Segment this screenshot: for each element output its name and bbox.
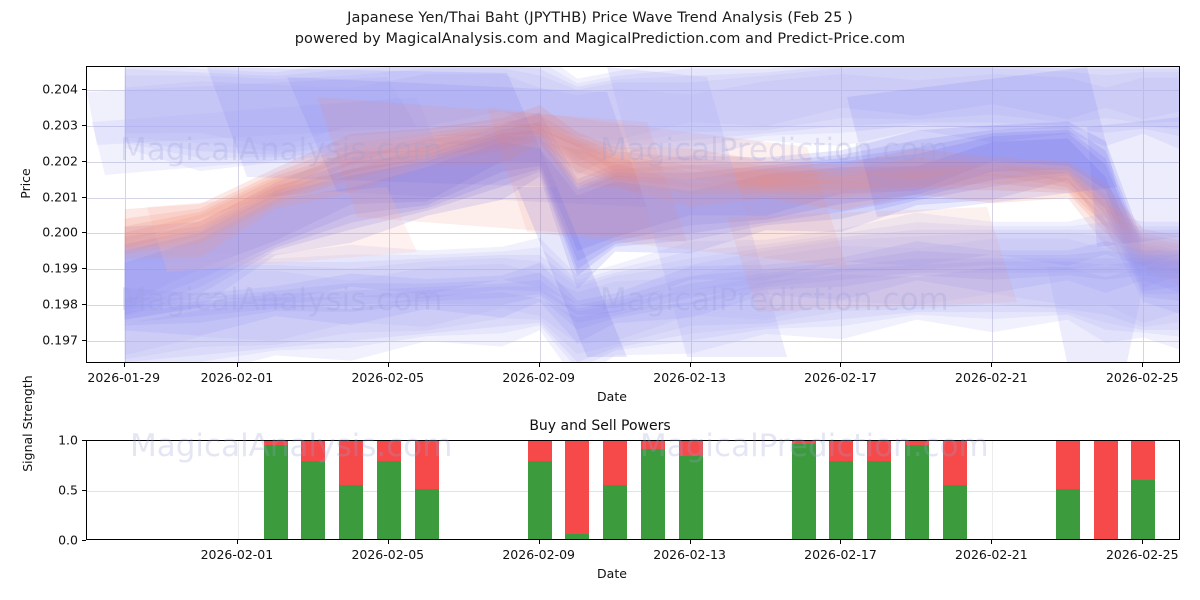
buy-power-segment (377, 461, 401, 539)
signal-y-tick-label: 0.0 (58, 533, 78, 548)
buy-power-segment (905, 445, 929, 539)
signal-bar[interactable] (641, 440, 665, 539)
signal-gridline-vertical (238, 441, 239, 539)
sell-power-segment (1094, 440, 1118, 539)
signal-x-tick-label: 2026-02-13 (653, 547, 726, 562)
price-x-tick-mark (690, 363, 691, 367)
buy-power-segment (565, 534, 589, 539)
price-y-tick-label: 0.199 (42, 261, 78, 276)
signal-y-tick-mark (82, 490, 86, 491)
price-x-tick-label: 2026-02-21 (955, 370, 1028, 385)
signal-bar[interactable] (905, 440, 929, 539)
price-x-tick-mark (1142, 363, 1143, 367)
price-y-tick-mark (82, 340, 86, 341)
signal-bar[interactable] (829, 440, 853, 539)
signal-x-tick-mark (840, 540, 841, 544)
signal-bar[interactable] (1056, 440, 1080, 539)
price-x-tick-label: 2026-02-05 (351, 370, 424, 385)
buy-power-segment (264, 445, 288, 539)
signal-y-tick-label: 0.5 (58, 483, 78, 498)
sell-power-segment (641, 440, 665, 449)
buy-power-segment (339, 485, 363, 539)
price-x-axis-label: Date (597, 389, 627, 404)
buy-sell-chart (86, 440, 1180, 540)
signal-gridline (87, 491, 1179, 492)
page-subtitle: powered by MagicalAnalysis.com and Magic… (0, 29, 1200, 50)
signal-bar[interactable] (867, 440, 891, 539)
sell-power-segment (301, 440, 325, 461)
price-y-tick-label: 0.203 (42, 118, 78, 133)
signal-y-tick-label: 1.0 (58, 433, 78, 448)
signal-bar[interactable] (339, 440, 363, 539)
buy-power-segment (943, 485, 967, 539)
price-x-tick-mark (237, 363, 238, 367)
price-y-tick-label: 0.201 (42, 189, 78, 204)
price-x-tick-mark (539, 363, 540, 367)
price-y-tick-mark (82, 304, 86, 305)
signal-bar[interactable] (377, 440, 401, 539)
chart-title-block: Japanese Yen/Thai Baht (JPYTHB) Price Wa… (0, 8, 1200, 50)
sell-power-segment (565, 440, 589, 534)
signal-x-tick-label: 2026-02-21 (955, 547, 1028, 562)
price-x-tick-label: 2026-01-29 (87, 370, 160, 385)
price-y-tick-label: 0.197 (42, 332, 78, 347)
buy-power-segment (1056, 489, 1080, 539)
price-wave-bands (87, 67, 1180, 363)
price-x-tick-label: 2026-02-17 (804, 370, 877, 385)
sell-power-segment (867, 440, 891, 461)
signal-x-tick-mark (539, 540, 540, 544)
buy-power-segment (528, 461, 552, 539)
sell-power-segment (377, 440, 401, 461)
signal-bar[interactable] (528, 440, 552, 539)
sell-power-segment (792, 440, 816, 444)
buy-power-segment (1131, 480, 1155, 539)
price-y-tick-mark (82, 268, 86, 269)
price-axis-label: Price (18, 168, 33, 199)
buy-power-segment (641, 449, 665, 539)
signal-bar[interactable] (603, 440, 627, 539)
signal-bar[interactable] (565, 440, 589, 539)
buy-power-segment (867, 461, 891, 539)
signal-bar[interactable] (1094, 440, 1118, 539)
signal-bar[interactable] (264, 440, 288, 539)
signal-bar[interactable] (1131, 440, 1155, 539)
signal-bar[interactable] (943, 440, 967, 539)
price-y-tick-mark (82, 89, 86, 90)
signal-y-tick-mark (82, 440, 86, 441)
buy-power-segment (829, 461, 853, 539)
price-y-tick-mark (82, 125, 86, 126)
sell-power-segment (679, 440, 703, 456)
price-y-tick-label: 0.198 (42, 296, 78, 311)
sell-power-segment (339, 440, 363, 485)
signal-x-tick-label: 2026-02-25 (1106, 547, 1179, 562)
signal-x-tick-label: 2026-02-17 (804, 547, 877, 562)
sell-power-segment (1131, 440, 1155, 480)
signal-y-tick-mark (82, 540, 86, 541)
wave-slab (1047, 267, 1147, 362)
buy-power-segment (603, 485, 627, 539)
buy-power-segment (415, 489, 439, 539)
buy-power-segment (679, 456, 703, 539)
signal-x-tick-mark (690, 540, 691, 544)
signal-x-tick-mark (991, 540, 992, 544)
sell-power-segment (264, 440, 288, 445)
price-x-tick-mark (388, 363, 389, 367)
signal-x-tick-label: 2026-02-05 (351, 547, 424, 562)
signal-x-tick-mark (237, 540, 238, 544)
price-x-tick-mark (124, 363, 125, 367)
signal-x-tick-mark (1142, 540, 1143, 544)
signal-bar[interactable] (415, 440, 439, 539)
price-x-tick-label: 2026-02-13 (653, 370, 726, 385)
price-wave-chart (86, 66, 1180, 363)
sell-power-segment (905, 440, 929, 445)
price-y-tick-mark (82, 161, 86, 162)
signal-bar[interactable] (792, 440, 816, 539)
sell-power-segment (1056, 440, 1080, 489)
price-x-tick-label: 2026-02-09 (502, 370, 575, 385)
signal-gridline-vertical (992, 441, 993, 539)
sell-power-segment (829, 440, 853, 461)
price-x-tick-label: 2026-02-01 (201, 370, 274, 385)
wave-slab (727, 207, 1017, 312)
signal-x-tick-label: 2026-02-09 (502, 547, 575, 562)
sell-power-segment (603, 440, 627, 485)
price-y-tick-label: 0.204 (42, 82, 78, 97)
price-x-tick-mark (840, 363, 841, 367)
price-y-tick-label: 0.202 (42, 153, 78, 168)
sell-power-segment (943, 440, 967, 485)
buy-power-segment (792, 444, 816, 539)
buy-sell-title: Buy and Sell Powers (0, 418, 1200, 434)
signal-x-axis-label: Date (597, 566, 627, 581)
price-y-tick-label: 0.200 (42, 225, 78, 240)
wave-slab (1087, 117, 1180, 247)
price-x-tick-mark (991, 363, 992, 367)
price-y-tick-mark (82, 197, 86, 198)
sell-power-segment (415, 440, 439, 489)
signal-bar[interactable] (679, 440, 703, 539)
signal-x-tick-label: 2026-02-01 (201, 547, 274, 562)
price-y-tick-mark (82, 232, 86, 233)
sell-power-segment (528, 440, 552, 461)
price-x-tick-label: 2026-02-25 (1106, 370, 1179, 385)
signal-bar[interactable] (301, 440, 325, 539)
buy-power-segment (301, 461, 325, 539)
signal-x-tick-mark (388, 540, 389, 544)
page-title: Japanese Yen/Thai Baht (JPYTHB) Price Wa… (0, 8, 1200, 29)
